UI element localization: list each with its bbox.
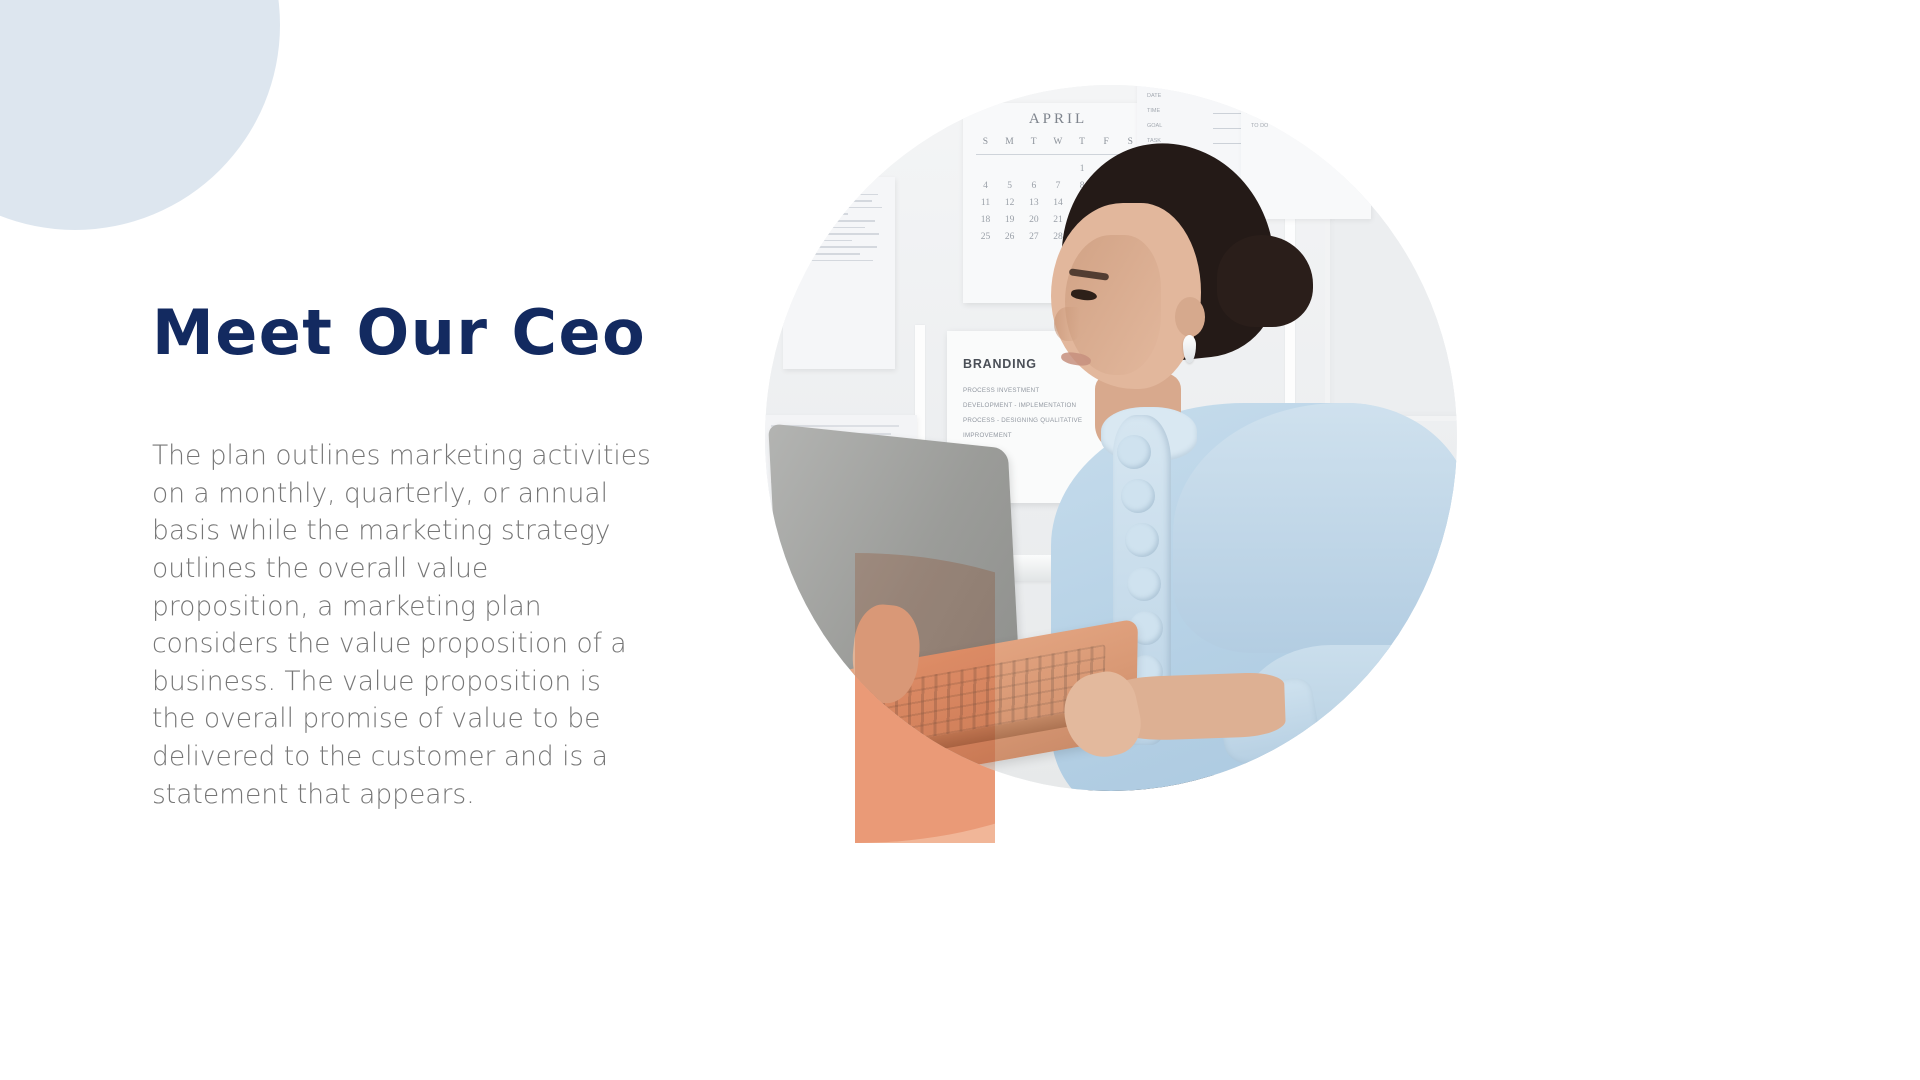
ruffle-scallop	[1125, 523, 1159, 557]
ruffle-scallop	[1127, 567, 1161, 601]
ruffle-scallop	[1117, 435, 1151, 469]
decorative-circle-top-left	[0, 0, 280, 230]
person-earring	[1183, 335, 1196, 363]
person-nose	[1054, 307, 1080, 341]
person-hair-bun	[1217, 235, 1313, 327]
body-paragraph: The plan outlines marketing activities o…	[152, 437, 652, 813]
person-ear	[1175, 297, 1205, 337]
slide-canvas: Meet Our Ceo The plan outlines marketing…	[0, 0, 1920, 1080]
text-column: Meet Our Ceo The plan outlines marketing…	[152, 300, 692, 813]
decorative-peach-overlay-inner	[855, 553, 995, 843]
ruffle-scallop	[1121, 479, 1155, 513]
decorative-peach-overlay	[855, 553, 995, 843]
page-title: Meet Our Ceo	[152, 300, 692, 365]
